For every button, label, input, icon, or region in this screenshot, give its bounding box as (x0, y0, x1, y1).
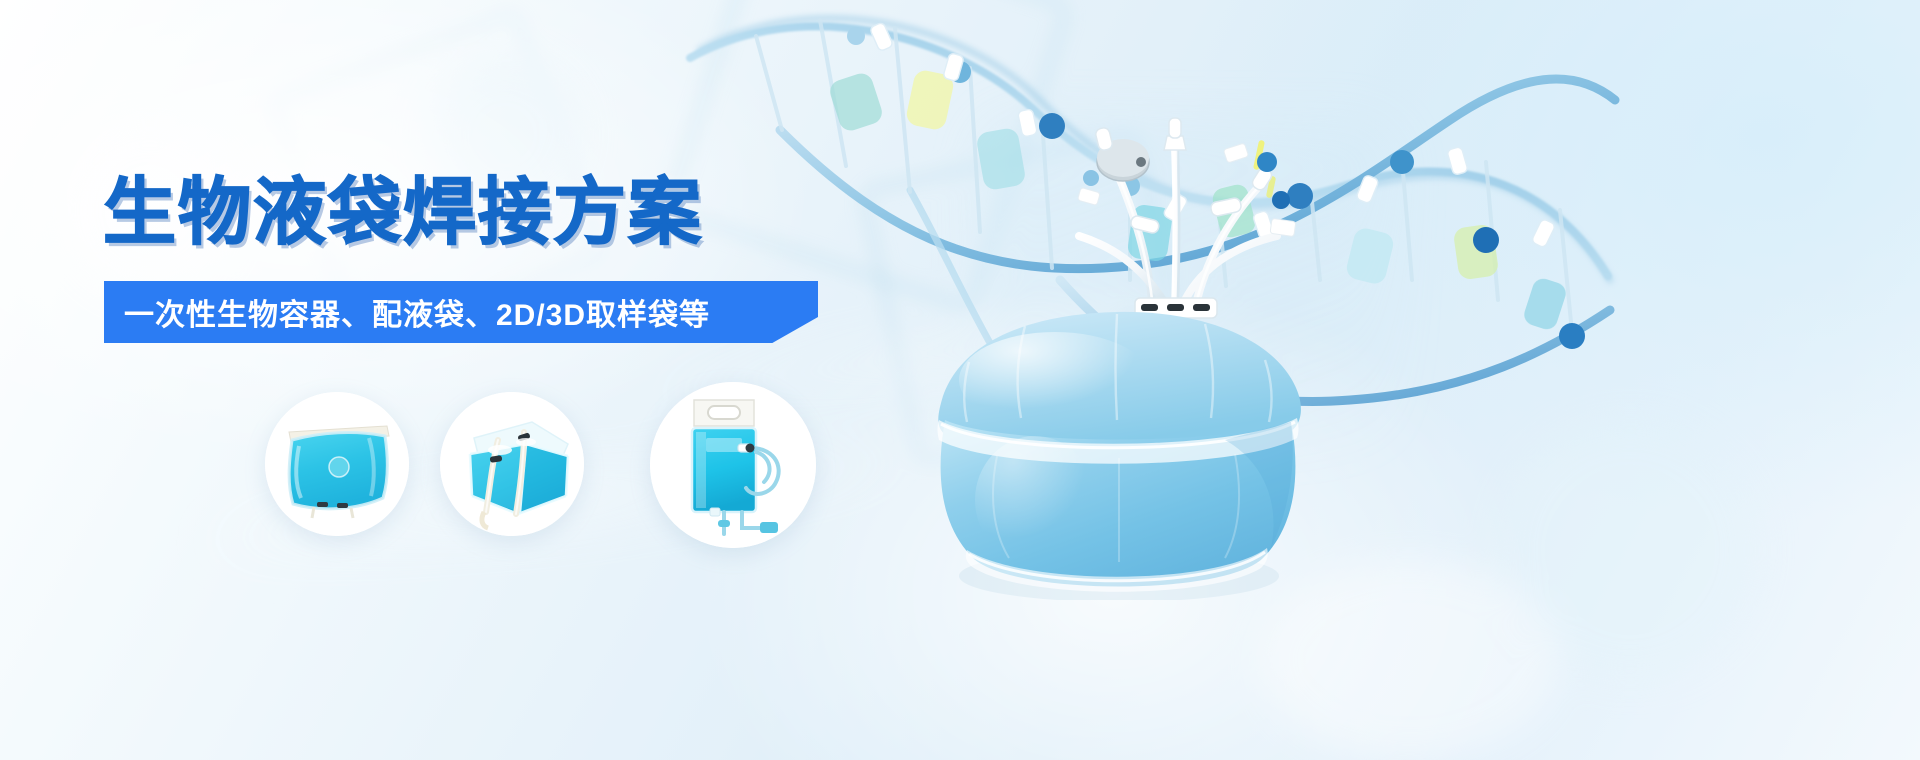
subtitle-text: 一次性生物容器、配液袋、2D/3D取样袋等 (124, 290, 710, 334)
2d-liquid-bag-icon (265, 392, 409, 536)
page-title: 生物液袋焊接方案 (103, 176, 703, 249)
tubing-manifold-illustration (1035, 50, 1335, 325)
subtitle-ribbon: 一次性生物容器、配液袋、2D/3D取样袋等 (104, 281, 818, 343)
sampling-bag-icon (650, 382, 816, 548)
product-thumb-2d-liquid-bag (265, 392, 409, 536)
product-thumb-sampling-bag (650, 382, 816, 548)
product-thumb-3d-cube-bag (440, 392, 584, 536)
3d-cube-bag-icon (440, 392, 584, 536)
banner-stage: 生物液袋焊接方案 一次性生物容器、配液袋、2D/3D取样袋等 (0, 0, 1920, 760)
bioprocess-bag-illustration (905, 300, 1325, 600)
